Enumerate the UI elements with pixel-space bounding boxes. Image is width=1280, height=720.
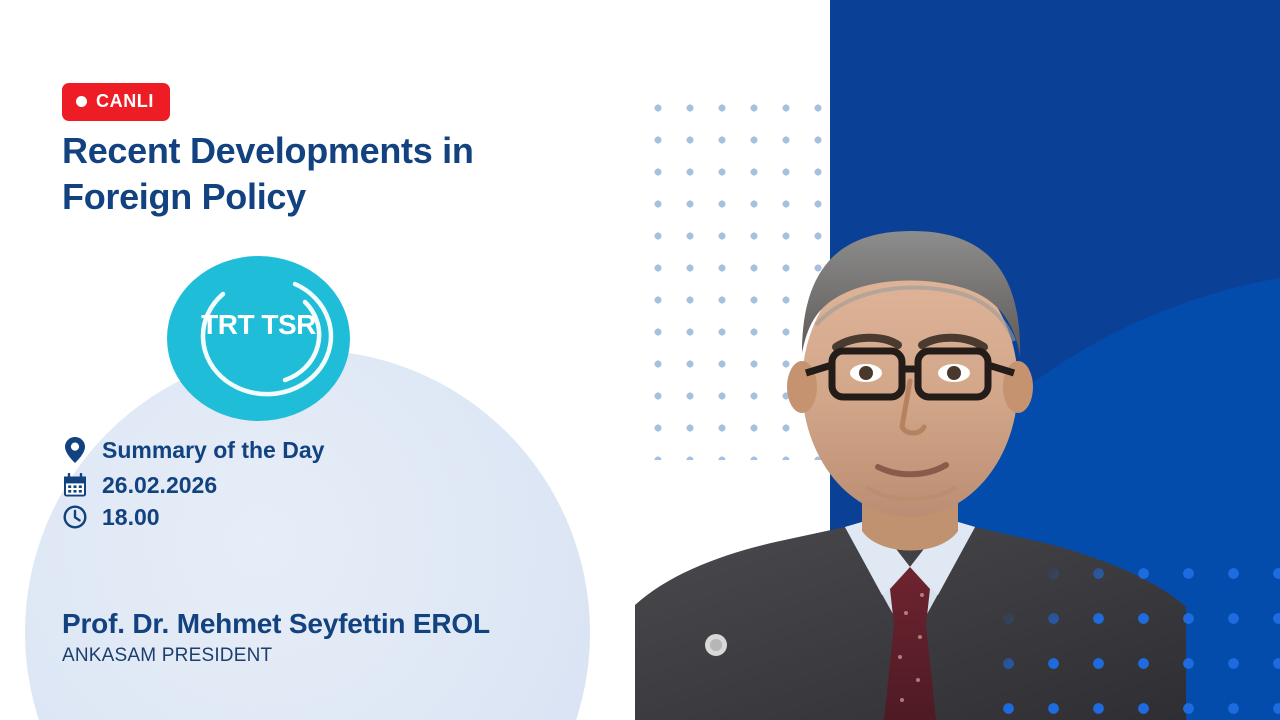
clock-icon [62,502,88,532]
content-column: CANLI Recent Developments in Foreign Pol… [62,0,662,720]
page-title: Recent Developments in Foreign Policy [62,128,592,220]
trt-tsr-logo: TRT TSR [167,256,350,421]
logo-wordmark: TRT TSR [167,309,350,341]
info-row-place: Summary of the Day [62,435,582,465]
speaker-title: ANKASAM PRESIDENT [62,645,622,667]
speaker-name: Prof. Dr. Mehmet Seyfettin EROL [62,608,622,640]
location-pin-icon [62,435,88,465]
info-row-date: 26.02.2026 [62,470,582,500]
live-badge: CANLI [62,83,170,121]
live-dot-icon [76,96,87,107]
dot-grid-accent [980,545,1280,720]
info-time-value: 18.00 [102,504,160,531]
info-place-value: Summary of the Day [102,437,324,464]
speaker-block: Prof. Dr. Mehmet Seyfettin EROL ANKASAM … [62,608,622,667]
calendar-icon [62,470,88,500]
event-info: Summary of the Day 26.02.2026 [62,435,582,540]
info-row-time: 18.00 [62,502,582,532]
promo-banner: CANLI Recent Developments in Foreign Pol… [0,0,1280,720]
live-badge-label: CANLI [96,91,154,112]
page-title-line2: Foreign Policy [62,174,592,220]
page-title-line1: Recent Developments in [62,128,592,174]
info-date-value: 26.02.2026 [102,472,217,499]
